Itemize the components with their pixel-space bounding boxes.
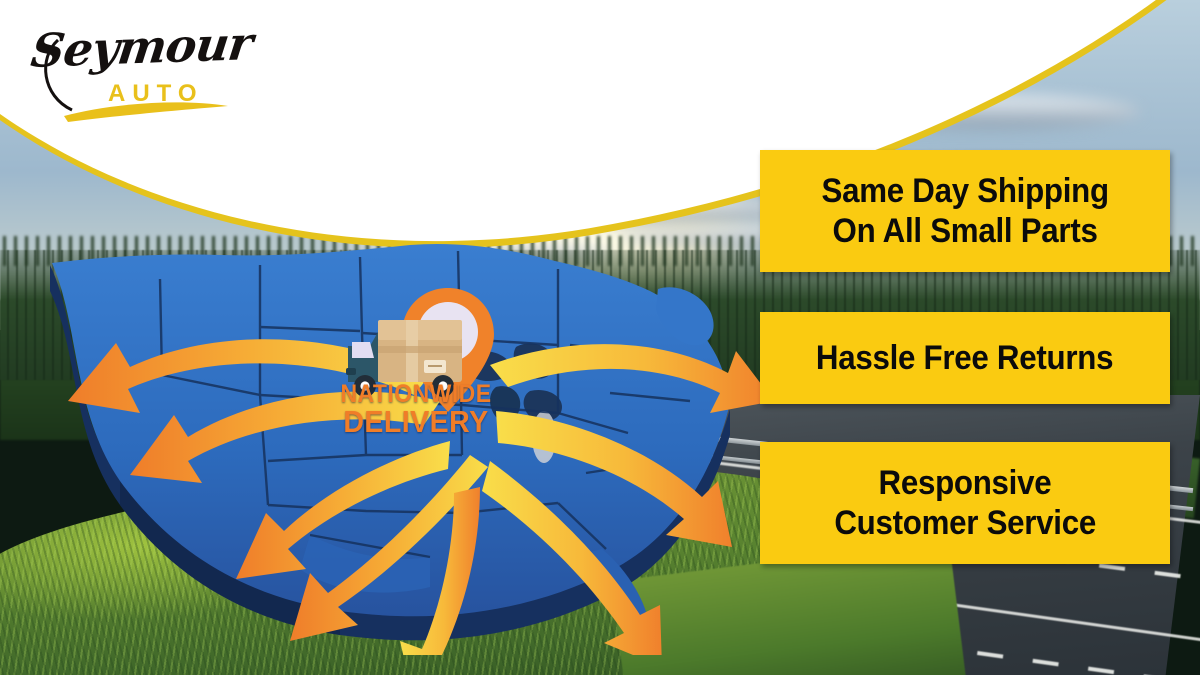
feature-panel-hassle-free-returns[interactable]: Hassle Free Returns: [760, 312, 1170, 404]
panel-line: On All Small Parts: [832, 211, 1097, 251]
panel-line: Responsive: [879, 463, 1052, 503]
seymour-auto-logo[interactable]: Seymour AUTO: [28, 18, 238, 123]
logo-swoosh-icon: [28, 18, 238, 123]
feature-panel-responsive-customer-service[interactable]: Responsive Customer Service: [760, 442, 1170, 564]
panel-line: Hassle Free Returns: [816, 338, 1113, 378]
panel-line: Same Day Shipping: [821, 171, 1108, 211]
panel-line: Customer Service: [834, 503, 1096, 543]
nationwide-delivery-label: NATIONWIDE DELIVERY: [316, 382, 516, 437]
delivery-label-line2: DELIVERY: [324, 407, 508, 437]
feature-panel-same-day-shipping[interactable]: Same Day Shipping On All Small Parts: [760, 150, 1170, 272]
promo-banner: NATIONWIDE DELIVERY Seymour AUTO Same Da…: [0, 0, 1200, 675]
